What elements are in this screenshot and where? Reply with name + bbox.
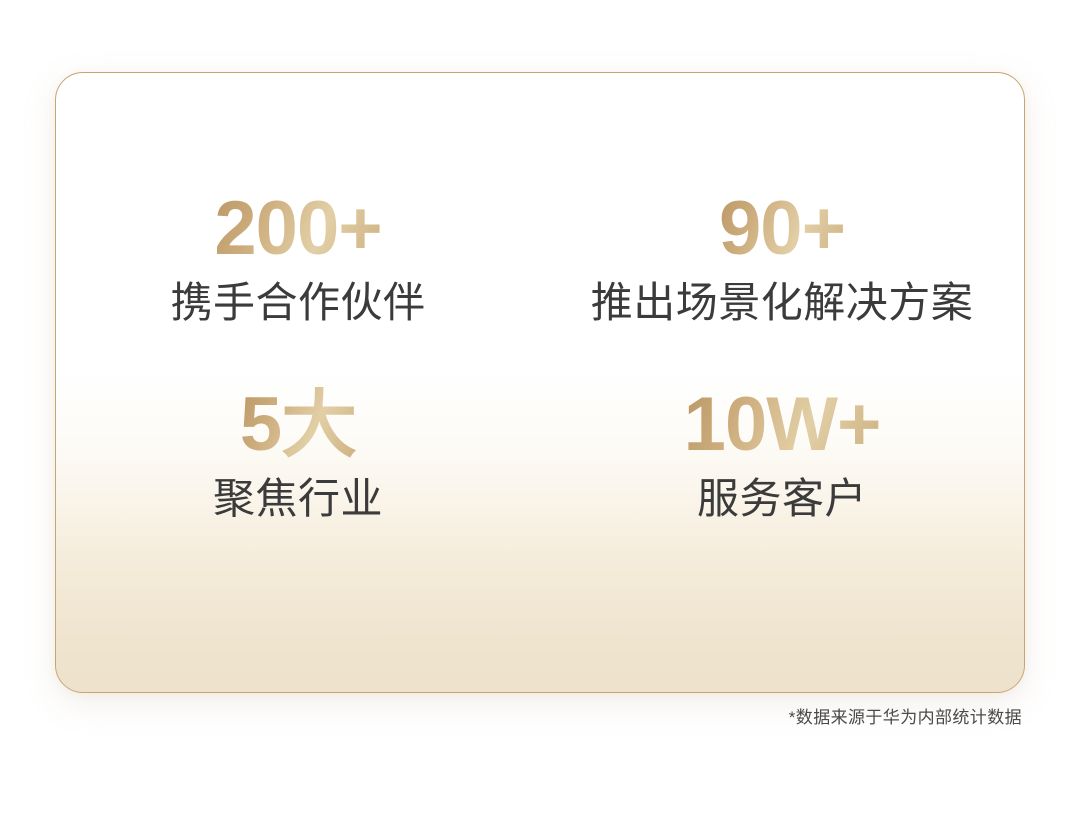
stat-item-customers: 10W+ 服务客户 [540,387,1024,523]
stat-item-industries: 5大 聚焦行业 [56,387,540,523]
data-source-footnote: *数据来源于华为内部统计数据 [789,703,1022,728]
stat-value: 90+ [719,191,845,267]
stat-value: 5大 [240,387,356,463]
stats-grid: 200+ 携手合作伙伴 90+ 推出场景化解决方案 5大 聚焦行业 10W+ 服… [56,73,1024,524]
stat-label: 服务客户 [540,475,1024,523]
stats-row: 5大 聚焦行业 10W+ 服务客户 [56,387,1024,523]
stats-row: 200+ 携手合作伙伴 90+ 推出场景化解决方案 [56,191,1024,327]
stats-card: 200+ 携手合作伙伴 90+ 推出场景化解决方案 5大 聚焦行业 10W+ 服… [55,72,1025,693]
stat-label: 携手合作伙伴 [56,279,540,327]
stat-label: 聚焦行业 [56,475,540,523]
stat-item-solutions: 90+ 推出场景化解决方案 [540,191,1024,327]
stat-item-partners: 200+ 携手合作伙伴 [56,191,540,327]
stat-value: 200+ [214,191,381,267]
stat-value: 10W+ [684,387,881,463]
stat-label: 推出场景化解决方案 [540,279,1024,327]
